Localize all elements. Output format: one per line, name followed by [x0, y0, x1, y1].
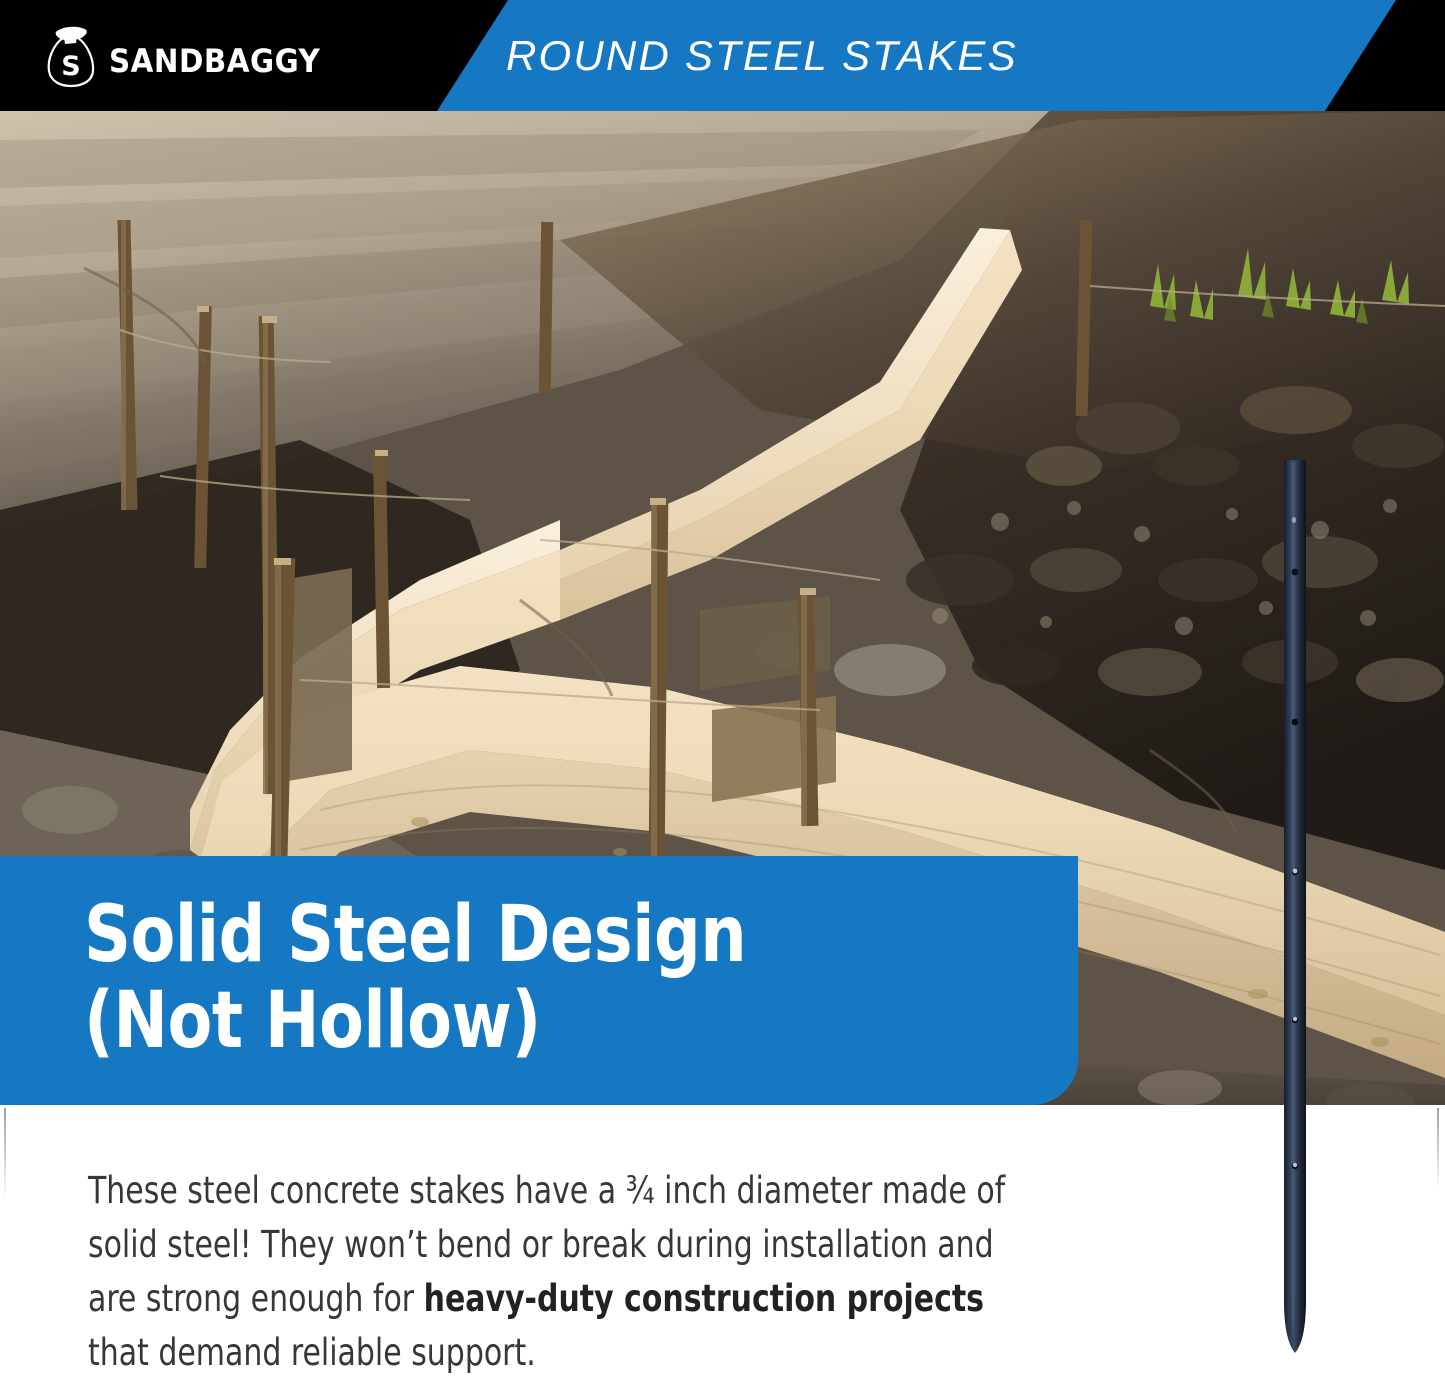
svg-text:S: S	[61, 51, 80, 82]
body-description: These steel concrete stakes have a ¾ inc…	[88, 1164, 1051, 1380]
headline: Solid Steel Design (Not Hollow)	[84, 892, 1008, 1064]
steel-stake-illustration	[1281, 460, 1309, 1358]
brand-name: SANDBAGGY	[109, 34, 320, 79]
left-edge-rule	[4, 1108, 6, 1200]
brand-logo[interactable]: S SANDBAGGY	[44, 19, 316, 93]
headline-line-1: Solid Steel Design	[84, 890, 746, 980]
headline-line-2: (Not Hollow)	[84, 978, 1008, 1064]
headline-panel: Solid Steel Design (Not Hollow)	[0, 856, 1078, 1105]
header-title: ROUND STEEL STAKES	[506, 0, 1018, 111]
sandbag-icon: S	[44, 23, 98, 89]
body-text-bold: heavy-duty construction projects	[424, 1277, 984, 1320]
infographic-root: Solid Steel Design (Not Hollow) These st…	[0, 0, 1445, 1388]
header-bar: S SANDBAGGY ROUND STEEL STAKES	[0, 0, 1445, 111]
right-edge-rule	[1437, 1108, 1439, 1190]
steel-stake-product	[1281, 460, 1309, 1358]
body-text-part-2: that demand reliable support.	[88, 1331, 536, 1374]
